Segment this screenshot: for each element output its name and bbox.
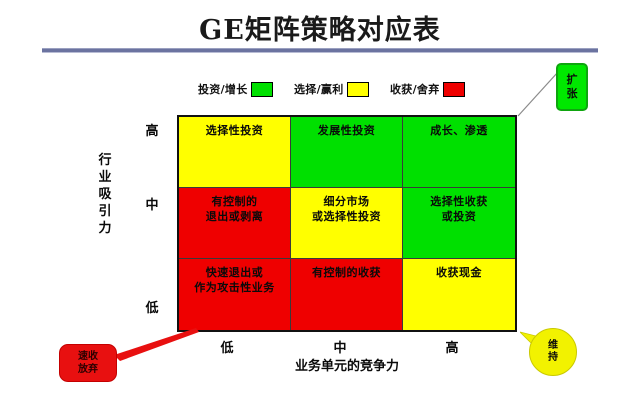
matrix-cell-text: 发展性投资: [291, 123, 402, 138]
matrix-cell-r0c1[interactable]: 发展性投资: [291, 117, 403, 188]
page-title: GE矩阵策略对应表: [0, 8, 640, 47]
matrix-cell-text: 收获现金: [403, 265, 515, 280]
callout-maintain[interactable]: 维 持: [529, 328, 577, 376]
x-axis-title: 业务单元的竞争力: [247, 355, 447, 374]
callout-maintain-label: 维 持: [548, 340, 558, 364]
matrix-cell-text: 成长、渗透: [403, 123, 515, 138]
matrix-cell-r0c2[interactable]: 成长、渗透: [403, 117, 515, 188]
x-axis-tick-low: 低: [207, 337, 247, 356]
y-axis-title: 行业吸引力: [96, 152, 114, 237]
matrix-cell-text: 有控制的收获: [291, 265, 402, 280]
matrix-cell-r1c1[interactable]: 细分市场 或选择性投资: [291, 188, 403, 259]
legend-label: 选择/赢利: [294, 81, 344, 97]
matrix-cell-r2c0[interactable]: 快速退出或 作为攻击性业务: [179, 259, 291, 330]
matrix-cell-text: 快速退出或 作为攻击性业务: [179, 265, 290, 295]
x-axis-tick-high: 高: [432, 337, 472, 356]
matrix-cell-r1c2[interactable]: 选择性收获 或投资: [403, 188, 515, 259]
y-axis-tick-low: 低: [140, 297, 164, 316]
matrix-cell-r1c0[interactable]: 有控制的 退出或剥离: [179, 188, 291, 259]
matrix-cell-r2c2[interactable]: 收获现金: [403, 259, 515, 330]
ge-matrix: 选择性投资 发展性投资 成长、渗透 有控制的 退出或剥离 细分市场 或选择性投资…: [177, 115, 517, 332]
y-axis-tick-high: 高: [140, 120, 164, 139]
y-axis-tick-medium: 中: [140, 194, 164, 213]
matrix-cell-text: 选择性收获 或投资: [403, 194, 515, 224]
callout-harvest-abandon[interactable]: 速收 放弃: [59, 344, 117, 382]
x-axis-tick-medium: 中: [320, 337, 360, 356]
yellow-swatch: [347, 82, 369, 97]
matrix-cell-text: 选择性投资: [179, 123, 290, 138]
callout-expand-label: 扩 张: [567, 73, 578, 101]
legend: 投资/增长 选择/赢利 收获/舍弃: [198, 80, 498, 98]
slide-canvas: GE矩阵策略对应表 投资/增长 选择/赢利 收获/舍弃 行业吸引力 高 中 低 …: [0, 0, 640, 404]
title-divider: [42, 48, 598, 53]
legend-item-harvest-divest: 收获/舍弃: [390, 80, 465, 98]
matrix-cell-text: 有控制的 退出或剥离: [179, 194, 290, 224]
matrix-cell-r0c0[interactable]: 选择性投资: [179, 117, 291, 188]
green-swatch: [251, 82, 273, 97]
callout-expand[interactable]: 扩 张: [556, 63, 588, 111]
legend-item-invest-grow: 投资/增长: [198, 80, 273, 98]
callout-harvest-label: 速收 放弃: [78, 350, 98, 376]
matrix-cell-text: 细分市场 或选择性投资: [291, 194, 402, 224]
red-swatch: [443, 82, 465, 97]
expand-connector-line: [516, 70, 560, 118]
legend-label: 投资/增长: [198, 81, 248, 97]
legend-item-select-profit: 选择/赢利: [294, 80, 369, 98]
legend-label: 收获/舍弃: [390, 81, 440, 97]
matrix-cell-r2c1[interactable]: 有控制的收获: [291, 259, 403, 330]
